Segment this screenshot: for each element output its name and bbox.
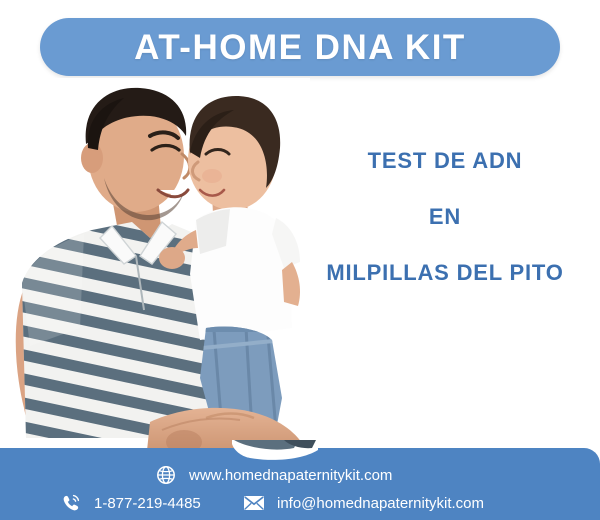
- phone-icon: [60, 492, 82, 514]
- footer-email-row[interactable]: info@homednapaternitykit.com: [243, 492, 484, 514]
- headline-line-3: MILPILLAS DEL PITO: [300, 262, 590, 284]
- footer-phone-row[interactable]: 1-877-219-4485: [60, 492, 201, 514]
- envelope-icon: [243, 492, 265, 514]
- headline-line-2: EN: [300, 206, 590, 228]
- globe-icon: [155, 464, 177, 486]
- footer-website-row[interactable]: www.homednapaternitykit.com: [155, 464, 392, 486]
- header-banner: AT-HOME DNA KIT: [40, 18, 560, 76]
- footer-phone-text: 1-877-219-4485: [94, 496, 201, 511]
- family-photo: [0, 78, 310, 460]
- headline-line-1: TEST DE ADN: [300, 150, 590, 172]
- photo-overlap-arm: [232, 440, 318, 462]
- headline-block: TEST DE ADN EN MILPILLAS DEL PITO: [300, 150, 590, 284]
- promo-poster: AT-HOME DNA KIT: [0, 0, 600, 520]
- banner-title: AT-HOME DNA KIT: [134, 30, 466, 65]
- family-photo-illustration: [0, 78, 310, 460]
- footer-email-text: info@homednapaternitykit.com: [277, 496, 484, 511]
- footer-website-text: www.homednapaternitykit.com: [189, 468, 392, 483]
